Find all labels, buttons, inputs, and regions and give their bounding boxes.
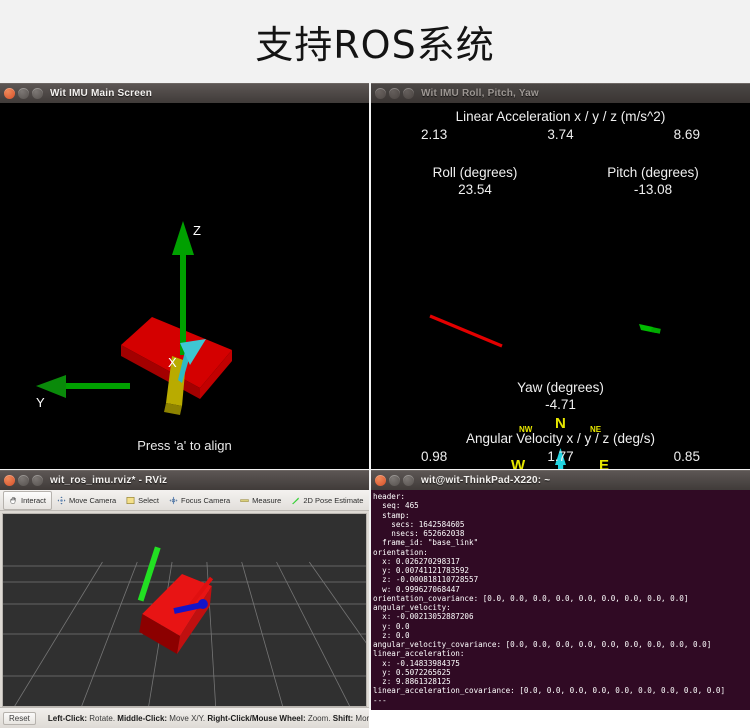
tool-2d-nav-goal[interactable]: 2D Nav Goal <box>368 492 369 509</box>
rviz-body <box>0 511 369 707</box>
rviz-toolbar: Interact Move Camera Select Focus Camera <box>0 490 369 511</box>
axis-y-arrow <box>36 375 130 398</box>
terminal-line: linear_acceleration_covariance: [0.0, 0.… <box>373 686 750 695</box>
rviz-scene <box>3 514 366 706</box>
hint-shift-val: More <box>353 714 369 723</box>
maximize-icon[interactable] <box>32 475 43 486</box>
tool-label-interact: Interact <box>21 496 46 505</box>
terminal-line: z: 9.8861328125 <box>373 677 750 686</box>
titlebar-rviz[interactable]: wit_ros_imu.rviz* - RViz <box>0 470 369 490</box>
axis-label-x: X <box>168 355 177 370</box>
terminal-line: --- <box>373 696 750 705</box>
close-icon[interactable] <box>375 475 386 486</box>
hand-icon <box>9 496 18 505</box>
tool-select[interactable]: Select <box>121 492 164 509</box>
window-title-rpy: Wit IMU Roll, Pitch, Yaw <box>421 88 539 99</box>
minimize-icon[interactable] <box>389 88 400 99</box>
terminal-line: stamp: <box>373 511 750 520</box>
select-icon <box>126 496 135 505</box>
terminal-line: y: 0.0 <box>373 622 750 631</box>
axis-label-z: Z <box>193 223 201 238</box>
angular-velocity-label: Angular Velocity x / y / z (deg/s) <box>371 431 750 447</box>
imu-3d-viewport[interactable]: Z Y X Press 'a' to align <box>0 103 369 469</box>
tool-label-focus-camera: Focus Camera <box>181 496 230 505</box>
window-rviz: wit_ros_imu.rviz* - RViz Interact Move C… <box>0 470 371 709</box>
terminal-line: z: -0.000818110728557 <box>373 575 750 584</box>
tool-move-camera[interactable]: Move Camera <box>52 492 121 509</box>
window-controls-main[interactable] <box>4 88 43 99</box>
hint-left-click-key: Left-Click: <box>48 714 87 723</box>
angular-velocity-values: 0.98 1.77 0.85 <box>371 449 750 464</box>
terminal-line: x: -0.14833984375 <box>373 659 750 668</box>
window-title-main: Wit IMU Main Screen <box>50 88 152 99</box>
tool-label-measure: Measure <box>252 496 281 505</box>
tool-label-move-camera: Move Camera <box>69 496 116 505</box>
imu-box-model <box>139 574 212 654</box>
axis-green-rod <box>138 546 161 601</box>
window-controls-terminal[interactable] <box>375 475 414 486</box>
terminal-line: x: -0.00213052887206 <box>373 612 750 621</box>
tool-label-2d-pose-estimate: 2D Pose Estimate <box>303 496 363 505</box>
focus-camera-icon <box>169 496 178 505</box>
reset-button[interactable]: Reset <box>3 712 36 725</box>
titlebar-main-screen[interactable]: Wit IMU Main Screen <box>0 83 369 103</box>
minimize-icon[interactable] <box>18 88 29 99</box>
terminal-line: y: 0.00741121783592 <box>373 566 750 575</box>
rviz-status-bar: Reset Left-Click: Rotate. Middle-Click: … <box>0 707 369 728</box>
axis-label-y: Y <box>36 395 45 410</box>
compass-n: N <box>555 415 566 432</box>
terminal-line: header: <box>373 492 750 501</box>
terminal-line: orientation_covariance: [0.0, 0.0, 0.0, … <box>373 594 750 603</box>
axis-blue-tip <box>198 599 208 609</box>
rviz-3d-viewport[interactable] <box>2 513 367 707</box>
maximize-icon[interactable] <box>32 88 43 99</box>
hint-right-click-key: Right-Click/Mouse Wheel: <box>207 714 305 723</box>
window-wit-imu-rpy: Wit IMU Roll, Pitch, Yaw Linear Accelera… <box>371 83 750 468</box>
angular-velocity-z: 0.85 <box>624 449 750 464</box>
terminal-line: seq: 465 <box>373 501 750 510</box>
window-title-rviz: wit_ros_imu.rviz* - RViz <box>50 475 167 486</box>
terminal-line: angular_velocity: <box>373 603 750 612</box>
maximize-icon[interactable] <box>403 475 414 486</box>
angular-velocity-y: 1.77 <box>497 449 623 464</box>
hint-middle-click-val: Move X/Y. <box>167 714 207 723</box>
close-icon[interactable] <box>4 88 15 99</box>
rviz-mouse-hint: Left-Click: Rotate. Middle-Click: Move X… <box>48 714 369 723</box>
window-controls-rviz[interactable] <box>4 475 43 486</box>
terminal-line: linear_acceleration: <box>373 649 750 658</box>
tool-focus-camera[interactable]: Focus Camera <box>164 492 235 509</box>
pose-arrow-icon <box>291 496 300 505</box>
titlebar-rpy[interactable]: Wit IMU Roll, Pitch, Yaw <box>371 83 750 103</box>
terminal-line: frame_id: "base_link" <box>373 538 750 547</box>
terminal-line: secs: 1642584605 <box>373 520 750 529</box>
maximize-icon[interactable] <box>403 88 414 99</box>
terminal-line: angular_velocity_covariance: [0.0, 0.0, … <box>373 640 750 649</box>
hint-right-click-val: Zoom. <box>306 714 333 723</box>
window-controls-rpy[interactable] <box>375 88 414 99</box>
tool-2d-pose-estimate[interactable]: 2D Pose Estimate <box>286 492 368 509</box>
screenshot-root: 支持ROS系统 Wit IMU Main Screen <box>0 0 750 709</box>
terminal-line: z: 0.0 <box>373 631 750 640</box>
close-icon[interactable] <box>375 88 386 99</box>
close-icon[interactable] <box>4 475 15 486</box>
terminal-line: w: 0.999627068447 <box>373 585 750 594</box>
window-title-terminal: wit@wit-ThinkPad-X220: ~ <box>421 475 550 486</box>
angular-velocity-x: 0.98 <box>371 449 497 464</box>
minimize-icon[interactable] <box>389 475 400 486</box>
minimize-icon[interactable] <box>18 475 29 486</box>
measure-icon <box>240 496 249 505</box>
tool-interact[interactable]: Interact <box>3 491 52 510</box>
terminal-output[interactable]: header: seq: 465 stamp: secs: 1642584605… <box>371 490 750 710</box>
window-wit-imu-main-screen: Wit IMU Main Screen <box>0 83 371 468</box>
window-terminal: wit@wit-ThinkPad-X220: ~ header: seq: 46… <box>371 470 750 709</box>
terminal-line: orientation: <box>373 548 750 557</box>
tool-measure[interactable]: Measure <box>235 492 286 509</box>
tool-label-select: Select <box>138 496 159 505</box>
align-hint: Press 'a' to align <box>0 438 369 453</box>
hint-left-click-val: Rotate. <box>87 714 117 723</box>
titlebar-terminal[interactable]: wit@wit-ThinkPad-X220: ~ <box>371 470 750 490</box>
terminal-line: nsecs: 652662038 <box>373 529 750 538</box>
move-camera-icon <box>57 496 66 505</box>
banner: 支持ROS系统 <box>0 0 750 83</box>
hint-middle-click-key: Middle-Click: <box>117 714 167 723</box>
rpy-viewport[interactable]: Linear Acceleration x / y / z (m/s^2) 2.… <box>371 103 750 469</box>
imu-3d-scene <box>0 103 369 469</box>
terminal-line: y: 0.5072265625 <box>373 668 750 677</box>
page-title: 支持ROS系统 <box>255 14 494 69</box>
terminal-line: x: 0.026270298317 <box>373 557 750 566</box>
hint-shift-key: Shift: <box>333 714 353 723</box>
